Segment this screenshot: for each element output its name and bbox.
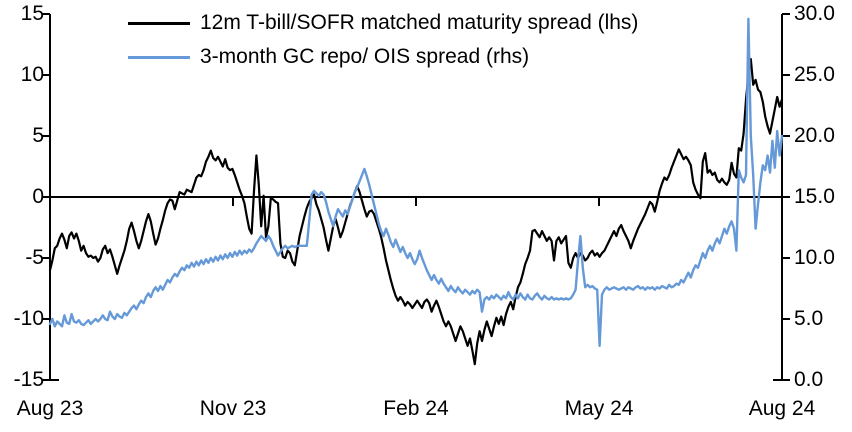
legend-line-swatch-black-icon	[128, 22, 190, 25]
legend-line-swatch-blue-icon	[128, 56, 190, 59]
series-line-tbill-sofr	[50, 59, 782, 364]
y-left-tick-label: 0	[0, 186, 44, 207]
y-left-tick-label: 5	[0, 125, 44, 146]
chart-legend: 12m T-bill/SOFR matched maturity spread …	[128, 6, 748, 74]
y-right-tick-label: 0.0	[794, 369, 852, 390]
x-tick-label: Aug 23	[0, 398, 110, 419]
y-right-tick-label: 10.0	[794, 247, 852, 268]
x-tick-label: Nov 23	[173, 398, 293, 419]
y-right-tick-label: 20.0	[794, 125, 852, 146]
y-right-tick-label: 15.0	[794, 186, 852, 207]
legend-label-gc-repo-ois: 3-month GC repo/ OIS spread (rhs)	[200, 46, 529, 68]
legend-label-tbill-sofr: 12m T-bill/SOFR matched maturity spread …	[200, 12, 638, 34]
y-right-tick-label: 30.0	[794, 3, 852, 24]
y-left-tick-label: 15	[0, 3, 44, 24]
y-left-tick-label: -10	[0, 308, 44, 329]
y-left-tick-label: -15	[0, 369, 44, 390]
y-right-tick-label: 5.0	[794, 308, 852, 329]
legend-item-gc-repo-ois: 3-month GC repo/ OIS spread (rhs)	[128, 40, 748, 74]
x-tick-label: May 24	[539, 398, 659, 419]
x-tick-label: Feb 24	[356, 398, 476, 419]
x-tick-label: Aug 24	[722, 398, 842, 419]
legend-item-tbill-sofr: 12m T-bill/SOFR matched maturity spread …	[128, 6, 748, 40]
y-left-tick-label: -5	[0, 247, 44, 268]
chart-container: 151050-5-10-15 30.025.020.015.010.05.00.…	[0, 0, 852, 432]
y-right-tick-label: 25.0	[794, 64, 852, 85]
y-left-tick-label: 10	[0, 64, 44, 85]
